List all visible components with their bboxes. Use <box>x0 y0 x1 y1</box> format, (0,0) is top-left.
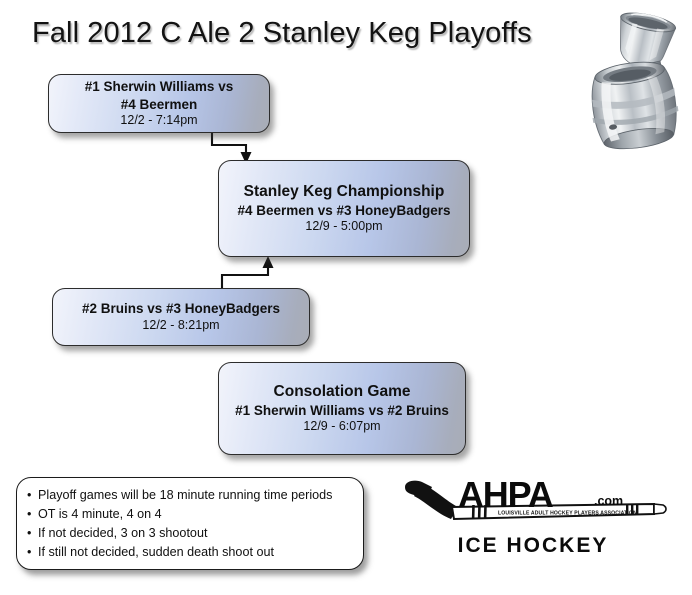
consolation-title: Consolation Game <box>274 382 411 403</box>
bullet-icon: • <box>27 486 38 505</box>
connector-semifinal1-to-championship <box>212 133 246 155</box>
game-box-championship[interactable]: Stanley Keg Championship #4 Beermen vs #… <box>218 160 470 257</box>
logo-tagline: ICE HOCKEY <box>388 534 678 558</box>
rule-text: If not decided, 3 on 3 shootout <box>38 524 207 543</box>
semifinal-2-datetime: 12/2 - 8:21pm <box>142 318 219 334</box>
semifinal-1-matchup-line-1: #1 Sherwin Williams vs <box>85 78 233 95</box>
rules-box: • Playoff games will be 18 minute runnin… <box>16 477 364 570</box>
rule-text: If still not decided, sudden death shoot… <box>38 543 274 562</box>
stanley-keg-trophy-icon <box>582 6 688 150</box>
trophy-keg <box>586 57 683 150</box>
rule-text: Playoff games will be 18 minute running … <box>38 486 332 505</box>
game-box-semifinal-1[interactable]: #1 Sherwin Williams vs #4 Beermen 12/2 -… <box>48 74 270 133</box>
logo-domain-text: .com <box>594 494 623 508</box>
bullet-icon: • <box>27 505 38 524</box>
rule-text: OT is 4 minute, 4 on 4 <box>38 505 162 524</box>
logo-wordmark: AHPA <box>458 474 554 515</box>
semifinal-1-datetime: 12/2 - 7:14pm <box>120 113 197 129</box>
rule-item: • If still not decided, sudden death sho… <box>27 543 353 562</box>
semifinal-2-matchup: #2 Bruins vs #3 HoneyBadgers <box>82 300 280 317</box>
game-box-consolation[interactable]: Consolation Game #1 Sherwin Williams vs … <box>218 362 466 455</box>
semifinal-1-matchup-line-2: #4 Beermen <box>121 96 198 113</box>
game-box-semifinal-2[interactable]: #2 Bruins vs #3 HoneyBadgers 12/2 - 8:21… <box>52 288 310 346</box>
arrowhead-into-championship-bottom <box>263 256 274 268</box>
championship-matchup: #4 Beermen vs #3 HoneyBadgers <box>237 202 450 219</box>
rule-item: • Playoff games will be 18 minute runnin… <box>27 486 353 505</box>
rule-item: • OT is 4 minute, 4 on 4 <box>27 505 353 524</box>
championship-title: Stanley Keg Championship <box>244 182 445 203</box>
page-title: Fall 2012 C Ale 2 Stanley Keg Playoffs <box>32 17 532 50</box>
stanley-keg-trophy-image <box>582 6 688 150</box>
championship-datetime: 12/9 - 5:00pm <box>305 219 382 235</box>
connector-semifinal2-to-championship <box>222 266 268 288</box>
consolation-datetime: 12/9 - 6:07pm <box>303 419 380 435</box>
rule-item: • If not decided, 3 on 3 shootout <box>27 524 353 543</box>
consolation-matchup: #1 Sherwin Williams vs #2 Bruins <box>235 402 449 419</box>
bullet-icon: • <box>27 543 38 562</box>
bullet-icon: • <box>27 524 38 543</box>
lahpa-logo: LOUISVILLE ADULT HOCKEY PLAYERS ASSOCIAT… <box>388 474 678 574</box>
